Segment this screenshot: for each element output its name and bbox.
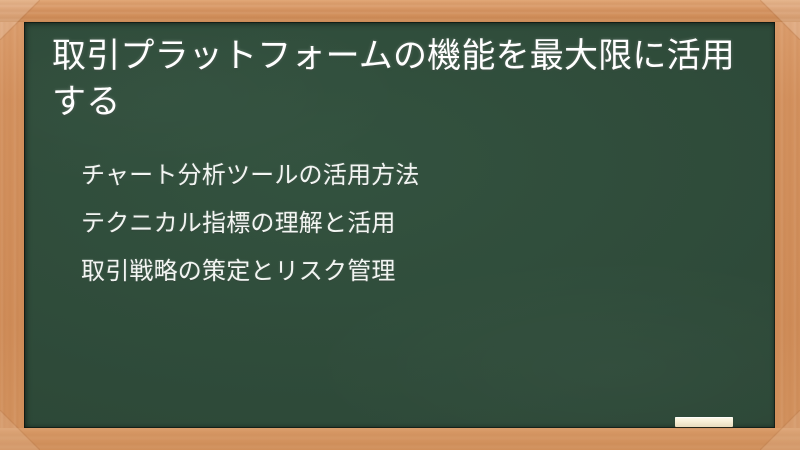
list-item: テクニカル指標の理解と活用 [81,200,755,248]
frame-top-rail [0,0,800,22]
list-item: 取引戦略の策定とリスク管理 [81,248,755,296]
chalkboard-frame: 取引プラットフォームの機能を最大限に活用する チャート分析ツールの活用方法 テク… [0,0,800,450]
slide-bullet-list: チャート分析ツールの活用方法 テクニカル指標の理解と活用 取引戦略の策定とリスク… [52,152,755,296]
list-item: チャート分析ツールの活用方法 [81,152,755,200]
frame-bottom-ledge [0,428,800,450]
chalk-stick-icon [675,417,733,427]
slide-title: 取引プラットフォームの機能を最大限に活用する [52,33,752,125]
slide-content: 取引プラットフォームの機能を最大限に活用する チャート分析ツールの活用方法 テク… [24,22,775,428]
chalkboard-surface: 取引プラットフォームの機能を最大限に活用する チャート分析ツールの活用方法 テク… [24,22,775,428]
